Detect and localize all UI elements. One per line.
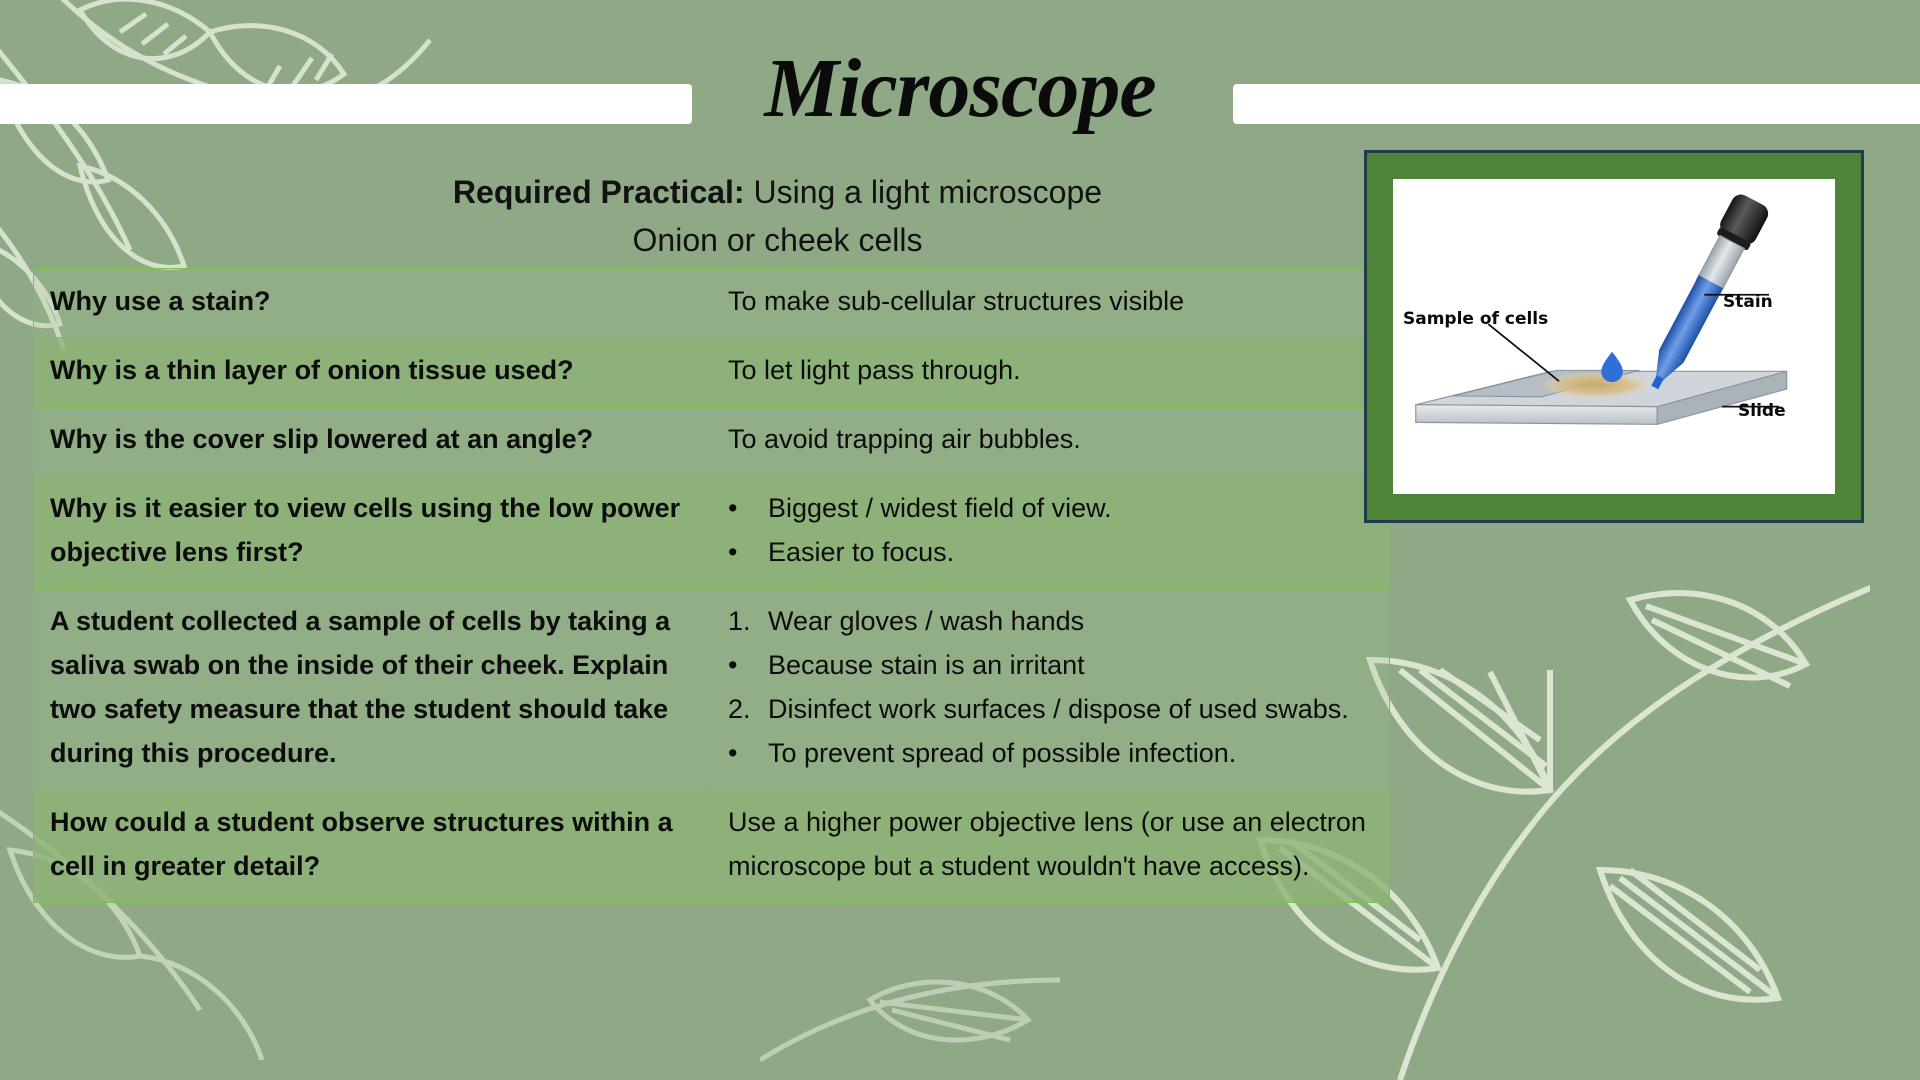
qa-table: Why use a stain?To make sub-cellular str… [33, 268, 1390, 903]
answer-line: •To prevent spread of possible infection… [728, 731, 1373, 775]
dropper-and-slide-diagram [1393, 179, 1835, 494]
answer-text: Use a higher power objective lens (or us… [728, 800, 1373, 888]
answer-text: To let light pass through. [728, 348, 1373, 392]
qa-table-body: Why use a stain?To make sub-cellular str… [34, 269, 1390, 903]
figure-label-sample-of-cells: Sample of cells [1403, 309, 1548, 329]
glass-slide-shape [1416, 370, 1787, 424]
answer-marker: • [728, 731, 754, 775]
answer-list: •Biggest / widest field of view.•Easier … [728, 486, 1373, 574]
question-cell: Why is a thin layer of onion tissue used… [34, 338, 712, 407]
answer-list: To let light pass through. [728, 348, 1373, 392]
answer-text: To prevent spread of possible infection. [768, 731, 1373, 775]
answer-text: To avoid trapping air bubbles. [728, 417, 1373, 461]
slide-canvas: Microscope Required Practical: Using a l… [0, 0, 1920, 1080]
answer-text: Because stain is an irritant [768, 643, 1373, 687]
answer-cell: To let light pass through. [712, 338, 1390, 407]
answer-marker: 2. [728, 687, 754, 731]
question-cell: Why is it easier to view cells using the… [34, 476, 712, 589]
table-row: A student collected a sample of cells by… [34, 589, 1390, 790]
answer-line: To avoid trapping air bubbles. [728, 417, 1373, 461]
answer-line: Use a higher power objective lens (or us… [728, 800, 1373, 888]
answer-line: 1.Wear gloves / wash hands [728, 599, 1373, 643]
figure-label-stain: Stain [1723, 292, 1773, 312]
subtitle-line2-label: Onion or cheek cells [633, 222, 923, 258]
question-cell: Why is the cover slip lowered at an angl… [34, 407, 712, 476]
answer-list: To make sub-cellular structures visible [728, 279, 1373, 323]
table-row: Why is a thin layer of onion tissue used… [34, 338, 1390, 407]
answer-list: 1.Wear gloves / wash hands•Because stain… [728, 599, 1373, 775]
answer-line: •Biggest / widest field of view. [728, 486, 1373, 530]
answer-list: To avoid trapping air bubbles. [728, 417, 1373, 461]
answer-marker: 1. [728, 599, 754, 643]
answer-cell: 1.Wear gloves / wash hands•Because stain… [712, 589, 1390, 790]
table-row: Why is the cover slip lowered at an angl… [34, 407, 1390, 476]
table-row: How could a student observe structures w… [34, 790, 1390, 903]
microscope-slide-illustration: Sample of cells Stain Slide [1393, 179, 1835, 494]
answer-text: Wear gloves / wash hands [768, 599, 1373, 643]
table-row: Why is it easier to view cells using the… [34, 476, 1390, 589]
question-cell: Why use a stain? [34, 269, 712, 338]
answer-marker: • [728, 643, 754, 687]
stain-droplet-shape [1601, 352, 1623, 382]
answer-text: Easier to focus. [768, 530, 1373, 574]
question-cell: How could a student observe structures w… [34, 790, 712, 903]
answer-text: Disinfect work surfaces / dispose of use… [768, 687, 1373, 731]
answer-line: •Easier to focus. [728, 530, 1373, 574]
subtitle: Required Practical: Using a light micros… [240, 168, 1315, 264]
answer-cell: To avoid trapping air bubbles. [712, 407, 1390, 476]
question-cell: A student collected a sample of cells by… [34, 589, 712, 790]
subtitle-bold-label: Required Practical: [453, 174, 745, 210]
answer-line: To make sub-cellular structures visible [728, 279, 1373, 323]
answer-line: 2.Disinfect work surfaces / dispose of u… [728, 687, 1373, 731]
answer-cell: Use a higher power objective lens (or us… [712, 790, 1390, 903]
answer-text: Biggest / widest field of view. [768, 486, 1373, 530]
table-row: Why use a stain?To make sub-cellular str… [34, 269, 1390, 338]
answer-line: •Because stain is an irritant [728, 643, 1373, 687]
answer-list: Use a higher power objective lens (or us… [728, 800, 1373, 888]
answer-marker: • [728, 486, 754, 530]
answer-text: To make sub-cellular structures visible [728, 279, 1373, 323]
answer-line: To let light pass through. [728, 348, 1373, 392]
answer-cell: •Biggest / widest field of view.•Easier … [712, 476, 1390, 589]
answer-cell: To make sub-cellular structures visible [712, 269, 1390, 338]
microscope-slide-figure-frame: Sample of cells Stain Slide [1364, 150, 1864, 523]
figure-label-slide: Slide [1738, 401, 1786, 421]
page-title: Microscope [0, 46, 1920, 132]
subtitle-rest-label: Using a light microscope [745, 174, 1102, 210]
answer-marker: • [728, 530, 754, 574]
